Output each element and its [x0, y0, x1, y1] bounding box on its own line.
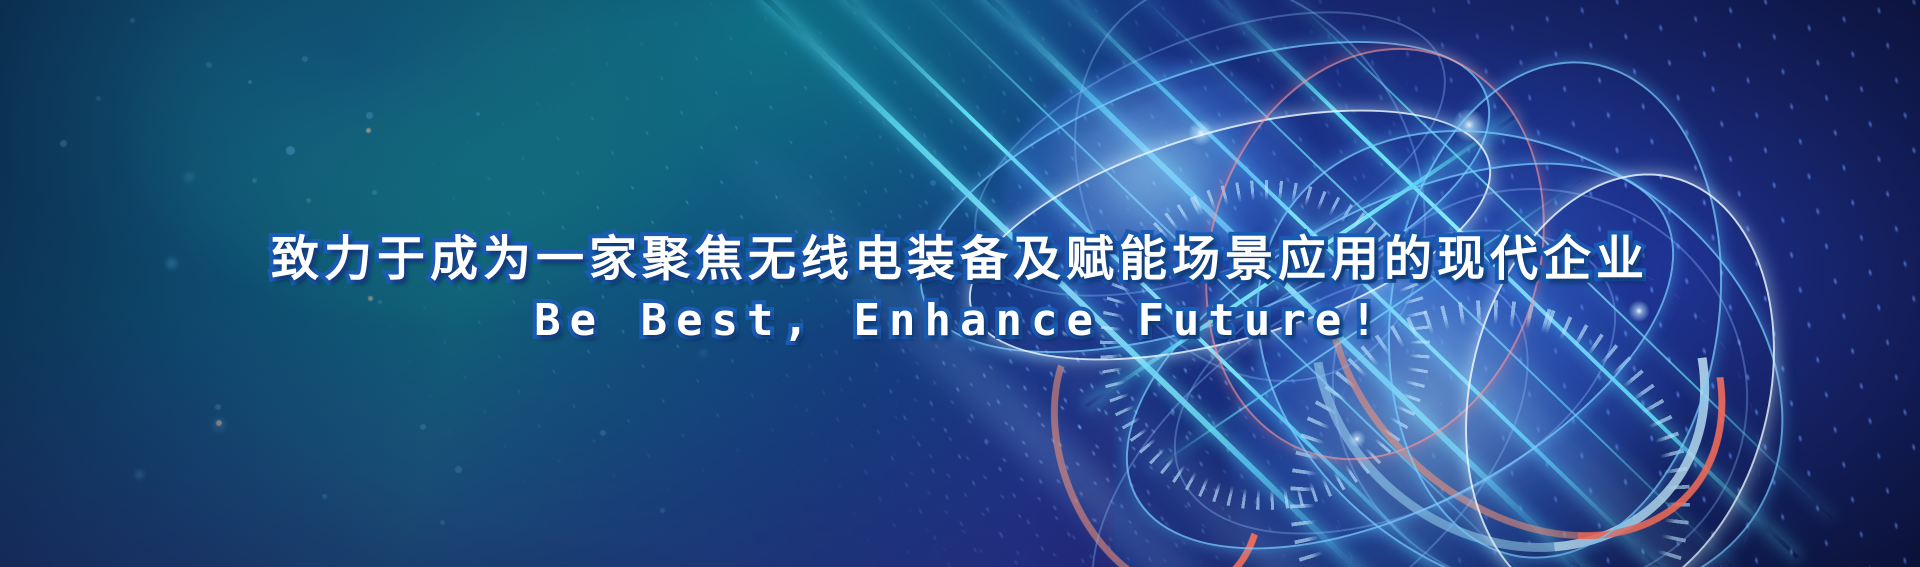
hero-banner: 致力于成为一家聚焦无线电装备及赋能场景应用的现代企业 Be Best, Enha…	[0, 0, 1920, 567]
headline-english: Be Best, Enhance Future!	[0, 295, 1920, 348]
headline-chinese: 致力于成为一家聚焦无线电装备及赋能场景应用的现代企业	[0, 232, 1920, 289]
headline-block: 致力于成为一家聚焦无线电装备及赋能场景应用的现代企业 Be Best, Enha…	[0, 232, 1920, 347]
